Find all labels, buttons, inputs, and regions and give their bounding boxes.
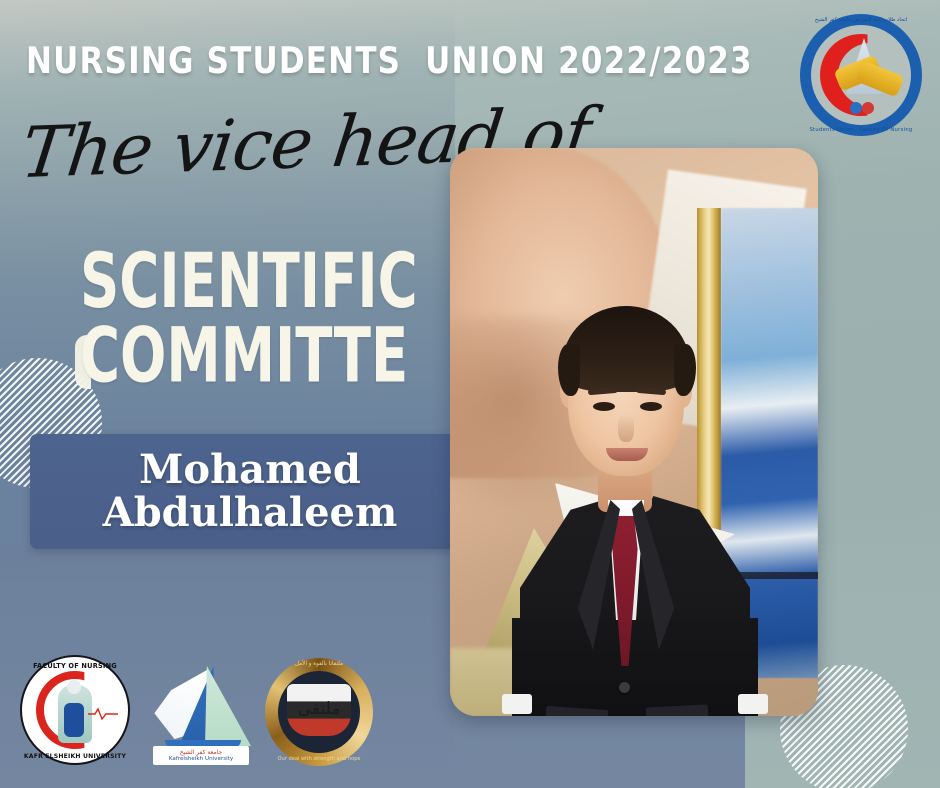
name-banner: Mohamed Abdulhaleem [30, 434, 470, 549]
subject-mouth [606, 448, 648, 461]
nursing-logo-figure-head-icon [67, 680, 81, 694]
forum-logo-text-english: Our deal with strength and hope [265, 756, 373, 762]
subject-suit-pocket-right [646, 704, 709, 716]
role-title-line-2: COMMITTE [80, 319, 418, 393]
person-name-line-2: Abdulhaleem [103, 492, 398, 534]
university-logo-nameplate: جامعة كفر الشيخ Kafrelsheikh University [153, 746, 249, 765]
university-logo-sail-green-icon [205, 666, 251, 746]
university-logo-text-arabic: جامعة كفر الشيخ [180, 749, 222, 756]
subject-torso [512, 618, 758, 716]
person-name-line-1: Mohamed [139, 449, 361, 491]
forum-logo-calligraphy-icon: ملتقى [295, 692, 343, 726]
students-union-logo: اتحاد طلاب كلية التمريض جامعة كفر الشيخ … [800, 14, 922, 136]
poster-canvas: NURSING STUDENTS UNION 2022/2023 The vic… [0, 0, 940, 788]
union-logo-text-arabic: اتحاد طلاب كلية التمريض جامعة كفر الشيخ [800, 17, 922, 23]
forum-logo-text-arabic: ملتقانا بالقوة و الأمل [265, 661, 373, 667]
faculty-of-nursing-logo: FACULTY OF NURSING KAFR ELSHEIKH UNIVERS… [20, 655, 130, 765]
role-title: SCIENTIFIC COMMITTE [80, 245, 418, 393]
university-logo-text-english: Kafrelsheikh University [169, 756, 233, 762]
student-forum-logo: ملتقى ملتقانا بالقوة و الأمل Our deal wi… [265, 658, 373, 766]
subject-cuff-right [738, 694, 768, 714]
subject-eye-left [593, 402, 615, 411]
nursing-logo-figure-body-icon [64, 703, 84, 737]
subject-nose [618, 414, 634, 442]
kafrelsheikh-university-logo: جامعة كفر الشيخ Kafrelsheikh University [145, 660, 255, 765]
page-title: NURSING STUDENTS UNION 2022/2023 [26, 40, 753, 82]
portrait-photo [450, 148, 818, 716]
union-logo-text-english: Students Union - Faculty Of Nursing [800, 127, 922, 133]
union-logo-badge-blue [850, 102, 862, 114]
nursing-logo-text-bottom: KAFR ELSHEIKH UNIVERSITY [20, 753, 130, 760]
nursing-logo-ecg-icon [88, 707, 118, 721]
nursing-logo-text-top: FACULTY OF NURSING [20, 662, 130, 670]
subject-cuff-left [502, 694, 532, 714]
subject-eye-right [640, 402, 662, 411]
union-logo-badge-red [862, 102, 874, 114]
subject-hair-left-side [558, 344, 580, 396]
subject-suit-button-upper [619, 682, 630, 693]
role-title-line-1: SCIENTIFIC [80, 245, 418, 319]
